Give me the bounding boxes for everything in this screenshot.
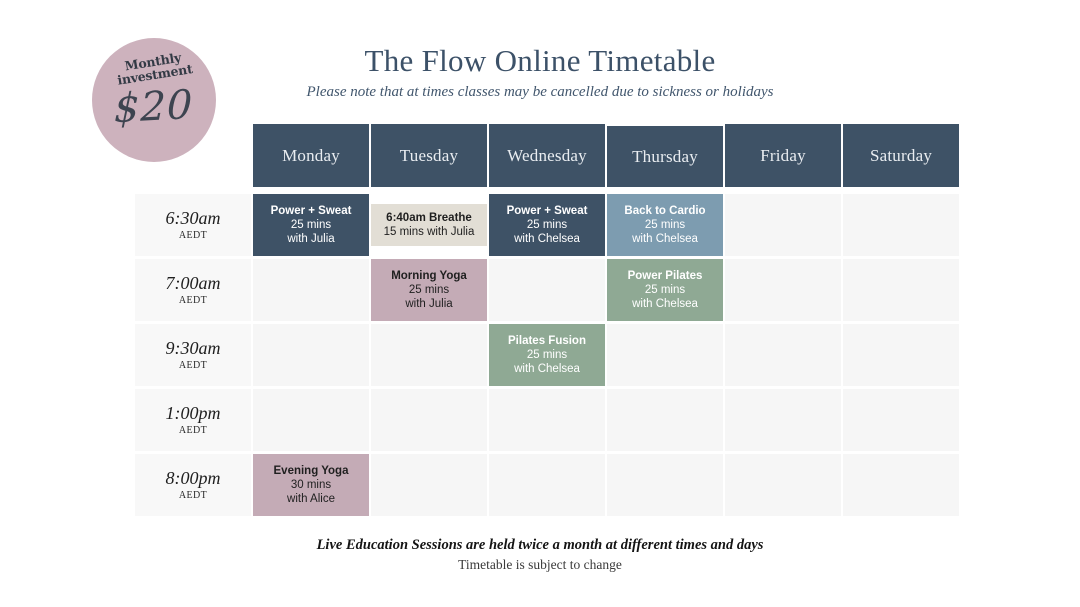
time-cell: 6:30amAEDT [135, 194, 251, 256]
class-details: 15 mins with Julia [384, 225, 475, 240]
empty-slot [843, 259, 959, 321]
class-duration: 25 mins [645, 283, 685, 298]
page-subtitle: Please note that at times classes may be… [0, 83, 1080, 102]
day-header-wednesday[interactable]: Wednesday [489, 124, 605, 187]
empty-slot [489, 454, 605, 516]
timetable-row: 1:00pmAEDT [135, 389, 963, 451]
class-duration: 25 mins [645, 218, 685, 233]
class-instructor: with Alice [287, 492, 335, 507]
timetable-row: 9:30amAEDTPilates Fusion25 minswith Chel… [135, 324, 963, 386]
empty-slot [725, 454, 841, 516]
class-duration: 30 mins [291, 478, 331, 493]
footer-line-1: Live Education Sessions are held twice a… [0, 536, 1080, 555]
day-header-saturday[interactable]: Saturday [843, 124, 959, 187]
timezone-label: AEDT [179, 229, 207, 242]
time-label: 8:00pm [166, 468, 221, 489]
timetable-grid: MondayTuesdayWednesdayThursdayFridaySatu… [135, 124, 963, 519]
page-title: The Flow Online Timetable [0, 42, 1080, 80]
day-header-friday[interactable]: Friday [725, 124, 841, 187]
class-instructor: with Chelsea [514, 362, 580, 377]
empty-slot [253, 389, 369, 451]
class-slot[interactable]: Evening Yoga30 minswith Alice [253, 454, 369, 516]
timezone-label: AEDT [179, 424, 207, 437]
time-cell: 8:00pmAEDT [135, 454, 251, 516]
empty-slot [253, 259, 369, 321]
class-instructor: with Chelsea [632, 232, 698, 247]
time-label: 1:00pm [166, 403, 221, 424]
empty-slot [607, 454, 723, 516]
empty-slot [371, 389, 487, 451]
class-instructor: with Julia [405, 297, 452, 312]
day-header-row: MondayTuesdayWednesdayThursdayFridaySatu… [135, 124, 963, 191]
day-header-tuesday[interactable]: Tuesday [371, 124, 487, 187]
footer: Live Education Sessions are held twice a… [0, 536, 1080, 574]
footer-line-2: Timetable is subject to change [0, 555, 1080, 574]
class-instructor: with Chelsea [514, 232, 580, 247]
day-header-thursday[interactable]: Thursday [607, 126, 723, 187]
class-slot-inner: 6:40am Breathe15 mins with Julia [371, 204, 487, 246]
time-cell: 1:00pmAEDT [135, 389, 251, 451]
empty-slot [371, 324, 487, 386]
class-instructor: with Chelsea [632, 297, 698, 312]
timezone-label: AEDT [179, 294, 207, 307]
empty-slot [843, 194, 959, 256]
timetable-body: 6:30amAEDTPower + Sweat25 minswith Julia… [135, 194, 963, 516]
time-cell: 9:30amAEDT [135, 324, 251, 386]
class-slot[interactable]: Power Pilates25 minswith Chelsea [607, 259, 723, 321]
class-duration: 25 mins [291, 218, 331, 233]
timetable-row: 6:30amAEDTPower + Sweat25 minswith Julia… [135, 194, 963, 256]
day-header-monday[interactable]: Monday [253, 124, 369, 187]
class-name: Morning Yoga [391, 269, 467, 283]
timetable-row: 7:00amAEDTMorning Yoga25 minswith JuliaP… [135, 259, 963, 321]
class-name: Pilates Fusion [508, 334, 586, 348]
class-duration: 25 mins [527, 218, 567, 233]
empty-slot [725, 389, 841, 451]
empty-slot [607, 389, 723, 451]
empty-slot [843, 389, 959, 451]
class-name: Evening Yoga [274, 464, 349, 478]
class-slot[interactable]: Power + Sweat25 minswith Chelsea [489, 194, 605, 256]
time-label: 6:30am [166, 208, 221, 229]
timetable-row: 8:00pmAEDTEvening Yoga30 minswith Alice [135, 454, 963, 516]
class-duration: 25 mins [527, 348, 567, 363]
empty-slot [371, 454, 487, 516]
class-slot[interactable]: Power + Sweat25 minswith Julia [253, 194, 369, 256]
time-label: 7:00am [166, 273, 221, 294]
class-slot[interactable]: 6:40am Breathe15 mins with Julia [371, 194, 487, 256]
empty-slot [843, 324, 959, 386]
timezone-label: AEDT [179, 489, 207, 502]
time-label: 9:30am [166, 338, 221, 359]
class-name: Power Pilates [628, 269, 703, 283]
class-slot[interactable]: Back to Cardio25 minswith Chelsea [607, 194, 723, 256]
empty-slot [725, 259, 841, 321]
class-name: 6:40am Breathe [386, 211, 472, 225]
time-column-header-spacer [135, 124, 251, 191]
empty-slot [725, 324, 841, 386]
class-slot[interactable]: Morning Yoga25 minswith Julia [371, 259, 487, 321]
empty-slot [489, 389, 605, 451]
empty-slot [725, 194, 841, 256]
empty-slot [489, 259, 605, 321]
class-name: Back to Cardio [624, 204, 705, 218]
empty-slot [607, 324, 723, 386]
timezone-label: AEDT [179, 359, 207, 372]
class-name: Power + Sweat [507, 204, 588, 218]
empty-slot [843, 454, 959, 516]
time-cell: 7:00amAEDT [135, 259, 251, 321]
class-slot[interactable]: Pilates Fusion25 minswith Chelsea [489, 324, 605, 386]
class-instructor: with Julia [287, 232, 334, 247]
empty-slot [253, 324, 369, 386]
class-name: Power + Sweat [271, 204, 352, 218]
class-duration: 25 mins [409, 283, 449, 298]
